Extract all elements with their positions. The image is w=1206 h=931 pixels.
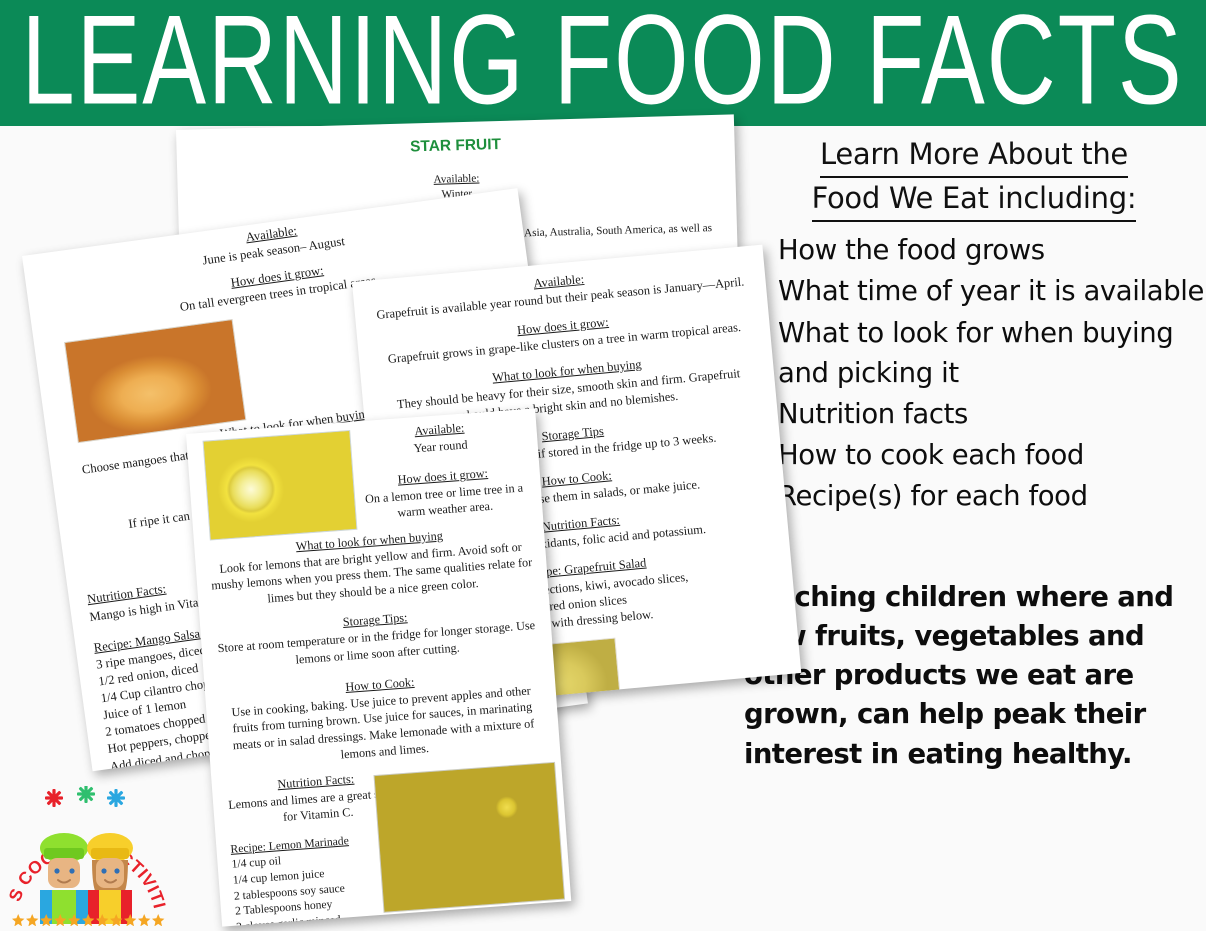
promo-heading-line1: Learn More About the: [820, 134, 1128, 178]
section-heading: Available:: [433, 172, 479, 188]
lemon-grow: How does it grow: On a lemon tree or lim…: [359, 462, 528, 524]
list-item: How the food grows: [748, 230, 1206, 270]
lemon-photo: [203, 430, 358, 541]
chef-girl-icon: [87, 833, 133, 924]
promo-column: Learn More About the Food We Eat includi…: [742, 128, 1206, 928]
feature-list: How the food grows What time of year it …: [742, 230, 1206, 516]
list-item: What time of year it is available: [748, 271, 1206, 311]
chef-boy-icon: [40, 833, 88, 924]
lemon-tree-photo: [373, 762, 565, 913]
brand-logo: KIDS COOKING ACTIVITIES: [6, 786, 166, 926]
sparkle-icon: [45, 786, 125, 807]
list-item: How to cook each food: [748, 435, 1206, 475]
lemon-cook: How to Cook: Use in cooking, baking. Use…: [219, 665, 546, 771]
list-item: Nutrition facts: [748, 394, 1206, 434]
header-banner: LEARNING FOOD FACTS: [0, 0, 1206, 126]
section-body: On a lemon tree or lime tree in a warm w…: [361, 479, 529, 524]
list-item: What to look for when buying and picking…: [748, 313, 1206, 393]
starfruit-title: STAR FRUIT: [198, 129, 712, 164]
document-card-lemon: Available: Year round How does it grow: …: [186, 408, 571, 926]
lemon-storage: Storage Tips: Store at room temperature …: [214, 600, 539, 673]
star-strip-icon: [12, 914, 164, 926]
list-item: Recipe(s) for each food: [748, 476, 1206, 516]
promo-heading-line2: Food We Eat including:: [812, 178, 1137, 222]
page-title: LEARNING FOOD FACTS: [22, 0, 1184, 129]
promo-heading: Learn More About the Food We Eat includi…: [742, 128, 1206, 222]
mango-photo: [64, 319, 246, 443]
section-body: Use in cooking, baking. Use juice to pre…: [220, 681, 546, 771]
promo-paragraph: Teaching children where and how fruits, …: [742, 578, 1206, 773]
lemon-available: Available: Year round: [356, 415, 524, 460]
